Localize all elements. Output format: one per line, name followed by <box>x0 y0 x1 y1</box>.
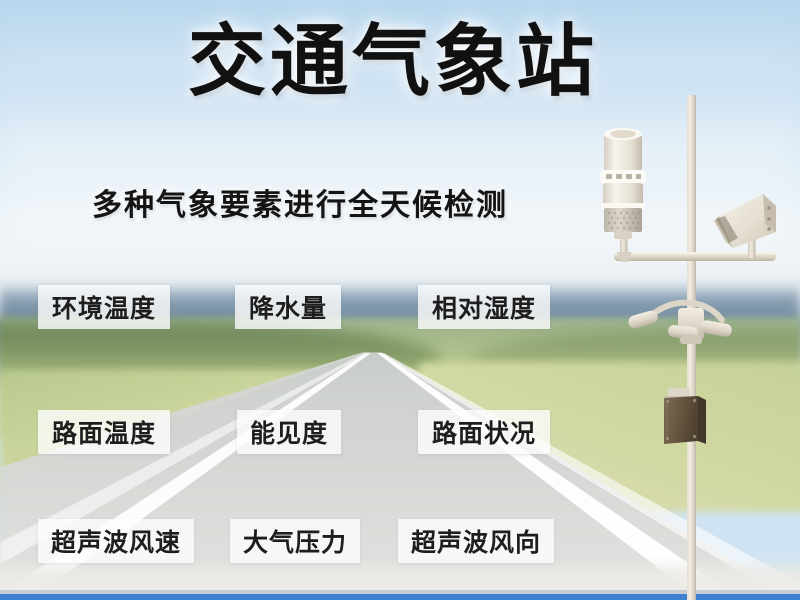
feature-chip: 路面温度 <box>38 410 170 454</box>
feature-chip: 超声波风向 <box>398 519 554 563</box>
station-mast <box>687 95 696 600</box>
feature-chip: 降水量 <box>235 285 341 329</box>
feature-chip: 大气压力 <box>230 519 360 563</box>
page-subtitle: 多种气象要素进行全天候检测 <box>0 180 600 224</box>
ultrasonic-wind-sensor <box>627 303 733 344</box>
camera-sensor <box>714 194 776 258</box>
control-box <box>664 388 706 444</box>
feature-chip: 路面状况 <box>418 410 550 454</box>
feature-chip: 能见度 <box>237 410 341 454</box>
product-banner: 交通气象站 多种气象要素进行全天候检测 环境温度降水量相对湿度路面温度能见度路面… <box>0 0 800 600</box>
feature-chip: 环境温度 <box>38 285 170 329</box>
feature-chip: 超声波风速 <box>38 519 194 563</box>
rain-gauge-sensor <box>600 128 646 239</box>
page-title: 交通气象站 <box>0 22 800 100</box>
feature-chip: 相对湿度 <box>418 285 550 329</box>
